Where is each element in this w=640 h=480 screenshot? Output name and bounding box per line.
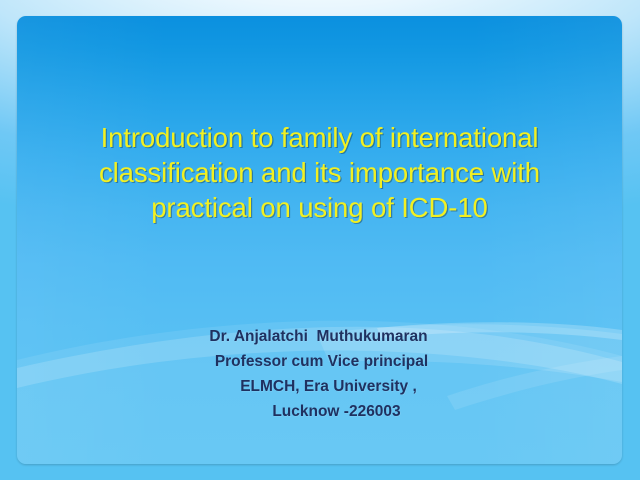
slide-byline: Dr. Anjalatchi Muthukumaran Professor cu…	[17, 324, 622, 424]
title-line-1: Introduction to family of international	[31, 120, 608, 155]
title-line-2: classification and its importance with	[31, 155, 608, 190]
slide-title: Introduction to family of international …	[17, 120, 622, 225]
slide-content-panel: Introduction to family of international …	[17, 16, 622, 464]
byline-presenter-name: Dr. Anjalatchi Muthukumaran	[17, 324, 582, 349]
byline-location: Lucknow -226003	[17, 399, 582, 424]
presentation-slide: Introduction to family of international …	[0, 0, 640, 480]
title-line-3: practical on using of ICD-10	[31, 190, 608, 225]
byline-institution: ELMCH, Era University ,	[17, 374, 582, 399]
byline-designation: Professor cum Vice principal	[17, 349, 582, 374]
